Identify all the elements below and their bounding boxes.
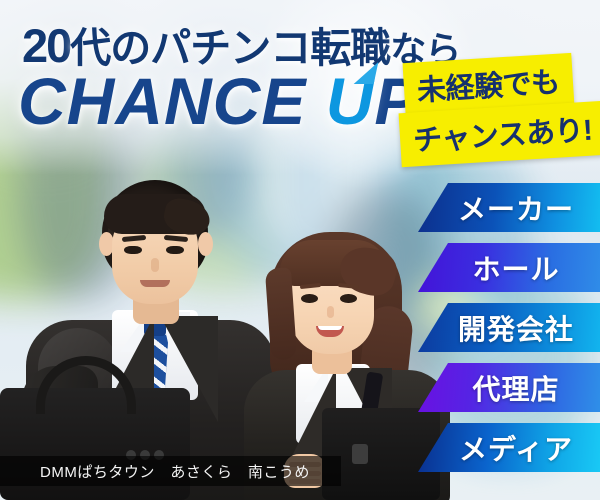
female-hair-fringe — [280, 240, 388, 286]
chance-up-banner-ad[interactable]: 20代のパチンコ転職なら CHANCE UP 未経験でも チャンスあり! メーカ… — [0, 0, 600, 500]
category-bar-development-company[interactable]: 開発会社 — [418, 303, 600, 352]
category-bar-label: メーカー — [444, 188, 574, 228]
female-briefcase — [322, 408, 440, 500]
male-eye-left — [124, 246, 142, 254]
category-bar-label: 開発会社 — [444, 308, 574, 348]
female-nose — [327, 306, 334, 318]
female-eye-left — [301, 294, 318, 303]
male-ear-right — [198, 232, 213, 256]
category-bar-agency[interactable]: 代理店 — [418, 363, 600, 412]
chance-up-logo: CHANCE UP — [18, 68, 419, 134]
badge-label: チャンスあり! — [412, 115, 593, 158]
badge-label: 未経験でも — [416, 67, 560, 108]
female-eye-right — [340, 294, 357, 303]
male-hair-fringe — [104, 194, 206, 234]
female-briefcase-stud — [352, 444, 368, 464]
category-bar-label: メディア — [445, 428, 573, 468]
logo-word-chance: CHANCE — [18, 64, 306, 138]
category-bar-media[interactable]: メディア — [418, 423, 600, 472]
male-nose — [151, 258, 159, 272]
male-eye-right — [166, 246, 184, 254]
male-mouth — [140, 280, 170, 287]
category-bar-label: 代理店 — [458, 368, 559, 408]
credit-strip: DMMぱちタウン あさくら 南こうめ — [0, 456, 341, 486]
category-bar-maker[interactable]: メーカー — [418, 183, 600, 232]
category-bar-hall[interactable]: ホール — [418, 243, 600, 292]
models-photo-group — [0, 160, 420, 500]
category-bar-label: ホール — [458, 248, 559, 288]
credit-text: DMMぱちタウン あさくら 南こうめ — [0, 461, 310, 482]
logo-letter-u: U — [326, 68, 375, 134]
